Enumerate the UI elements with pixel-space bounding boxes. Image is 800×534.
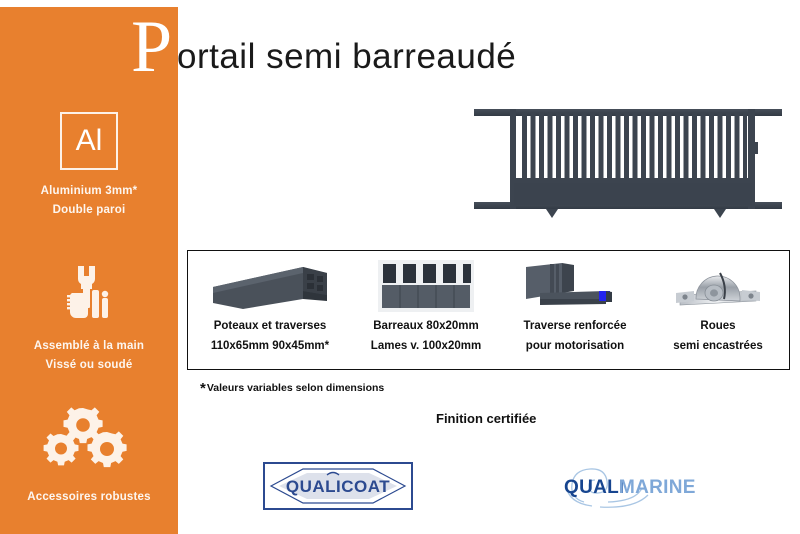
component-poteaux-traverses-line1: Poteaux et traverses [214, 320, 327, 332]
certification-heading: Finition certifiée [436, 411, 536, 426]
post-profile-icon [190, 256, 350, 316]
aluminium-symbol-label: Al [76, 126, 103, 156]
component-poteaux-traverses: Poteaux et traverses 110x65mm 90x45mm* [190, 251, 350, 371]
sidebar-feature-aluminium-line1: Aluminium 3mm* [0, 182, 178, 201]
qualicoat-logo: QUALICOAT [263, 462, 413, 510]
page-title-initial: P [131, 16, 172, 78]
qualimarine-logo: QUALI MARINE [556, 462, 706, 510]
sidebar-feature-assembly: Assemblé à la main Vissé ou soudé [0, 262, 178, 375]
page-title-text: ortail semi barreaudé [177, 36, 516, 78]
component-traverse-renforcee: Traverse renforcée pour motorisation [502, 251, 648, 371]
components-box: Poteaux et traverses 110x65mm 90x45mm* [187, 250, 790, 370]
component-barreaux-line1: Barreaux 80x20mm [373, 320, 479, 332]
sliding-gate-illustration [468, 104, 788, 224]
component-roues-line1: Roues [700, 320, 735, 332]
sidebar-feature-assembly-line1: Assemblé à la main [0, 337, 178, 356]
component-roues: Roues semi encastrées [648, 251, 788, 371]
component-poteaux-traverses-line2: 110x65mm 90x45mm* [211, 340, 329, 352]
reinforced-crossbar-icon [502, 256, 648, 316]
qualimarine-wave-icon: QUALI MARINE [556, 462, 706, 510]
sidebar-feature-aluminium: Al Aluminium 3mm* Double paroi [0, 112, 178, 220]
hand-wrench-icon [0, 262, 178, 329]
bars-slats-icon [350, 256, 502, 316]
product-sheet-page: Al Aluminium 3mm* Double paroi [0, 0, 800, 534]
component-roues-line2: semi encastrées [673, 340, 763, 352]
svg-text:MARINE: MARINE [619, 477, 696, 498]
svg-text:QUALI: QUALI [564, 477, 625, 498]
footnote-asterisk: * [200, 380, 206, 397]
sidebar-feature-assembly-line2: Vissé ou soudé [0, 356, 178, 375]
component-barreaux-line2: Lames v. 100x20mm [371, 340, 481, 352]
aluminium-square-icon: Al [0, 112, 178, 170]
footnote-text: Valeurs variables selon dimensions [207, 382, 384, 394]
qualicoat-wordmark: QUALICOAT [286, 477, 390, 496]
component-traverse-line1: Traverse renforcée [524, 320, 627, 332]
sidebar-feature-accessories: Accessoires robustes [0, 407, 178, 507]
sidebar-feature-aluminium-line2: Double paroi [0, 201, 178, 220]
component-traverse-line2: pour motorisation [526, 340, 624, 352]
wheel-bearing-icon [648, 256, 788, 316]
sidebar-feature-accessories-line1: Accessoires robustes [0, 488, 178, 507]
footnote: *Valeurs variables selon dimensions [200, 380, 384, 397]
gears-icon [0, 407, 178, 478]
component-barreaux-lames: Barreaux 80x20mm Lames v. 100x20mm [350, 251, 502, 371]
